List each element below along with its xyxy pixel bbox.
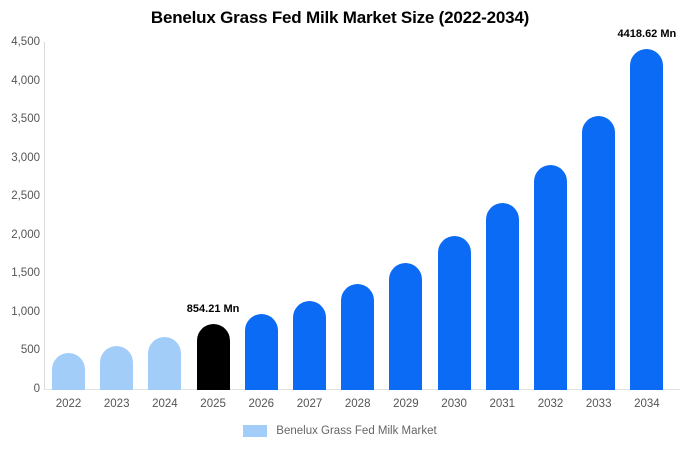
bar-shape-2025 (197, 324, 230, 390)
bar-shape-2027 (293, 301, 326, 390)
bar-shape-2028 (341, 284, 374, 390)
x-tick-label-2034: 2034 (617, 398, 677, 410)
y-tick-label: 500 (0, 344, 40, 356)
y-tick-label: 2,500 (0, 190, 40, 202)
legend-swatch-benelux-grass-fed-milk-market (243, 425, 267, 437)
y-tick-label: 1,500 (0, 267, 40, 279)
bar-2032[interactable] (534, 42, 567, 390)
y-tick-label: 1,000 (0, 306, 40, 318)
bar-2027[interactable] (293, 42, 326, 390)
bar-2031[interactable] (486, 42, 519, 390)
bar-shape-2029 (389, 263, 422, 390)
y-tick-label: 4,000 (0, 75, 40, 87)
bar-2026[interactable] (245, 42, 278, 390)
bar-shape-2030 (438, 236, 471, 390)
y-tick-label: 4,500 (0, 36, 40, 48)
bar-shape-2023 (100, 346, 133, 390)
y-tick-label: 2,000 (0, 229, 40, 241)
bar-chart: Benelux Grass Fed Milk Market Size (2022… (0, 0, 680, 450)
bar-shape-2022 (52, 353, 85, 390)
y-tick-label: 0 (0, 383, 40, 395)
bar-shape-2034 (630, 49, 663, 390)
chart-title: Benelux Grass Fed Milk Market Size (2022… (0, 8, 680, 28)
bar-2029[interactable] (389, 42, 422, 390)
bar-2025[interactable] (197, 42, 230, 390)
bar-2028[interactable] (341, 42, 374, 390)
bar-2030[interactable] (438, 42, 471, 390)
bar-shape-2033 (582, 116, 615, 391)
chart-legend: Benelux Grass Fed Milk Market (0, 425, 680, 437)
bar-shape-2024 (148, 337, 181, 390)
legend-label-benelux-grass-fed-milk-market: Benelux Grass Fed Milk Market (276, 425, 436, 437)
bar-shape-2031 (486, 203, 519, 390)
y-tick-label: 3,500 (0, 113, 40, 125)
bar-2022[interactable] (52, 42, 85, 390)
bar-value-label-2025: 854.21 Mn (187, 303, 240, 315)
bar-2033[interactable] (582, 42, 615, 390)
y-tick-label: 3,000 (0, 152, 40, 164)
plot-area (44, 42, 680, 390)
y-axis: 05001,0001,5002,0002,5003,0003,5004,0004… (0, 0, 40, 450)
bar-shape-2032 (534, 165, 567, 390)
bar-value-label-2034: 4418.62 Mn (618, 28, 677, 40)
bar-2023[interactable] (100, 42, 133, 390)
bar-shape-2026 (245, 314, 278, 390)
bar-2034[interactable] (630, 42, 663, 390)
bar-2024[interactable] (148, 42, 181, 390)
